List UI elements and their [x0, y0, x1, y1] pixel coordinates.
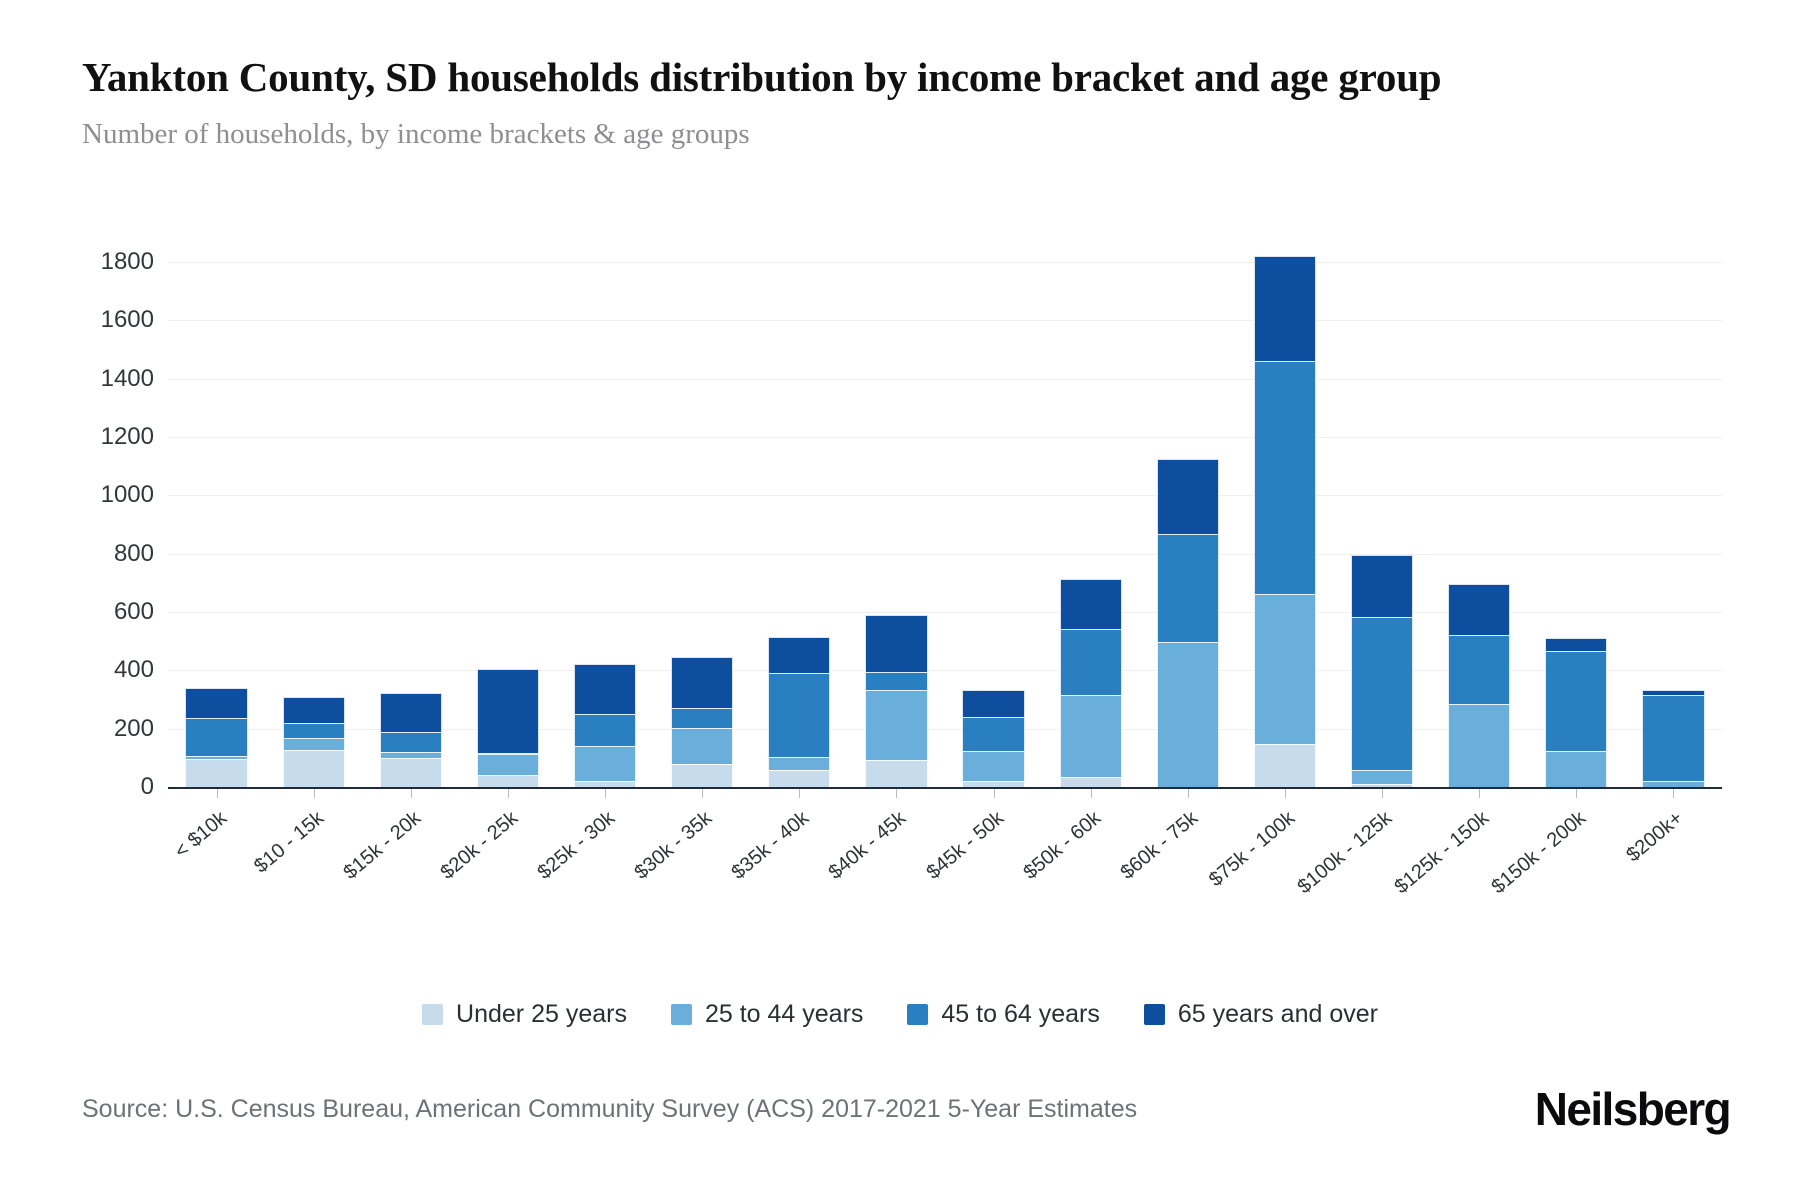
- x-axis-tick-label: $200k+: [1623, 807, 1688, 867]
- y-axis-tick-label: 1000: [101, 481, 154, 509]
- bar-group[interactable]: [1139, 262, 1236, 787]
- bar-stack: [1254, 256, 1316, 787]
- x-axis-tick: $75k - 100k: [1236, 789, 1333, 919]
- x-tick-mark: [1285, 789, 1286, 798]
- y-axis-tick-label: 1400: [101, 365, 154, 393]
- y-axis-tick-label: 0: [141, 773, 154, 801]
- legend-item[interactable]: 45 to 64 years: [907, 1000, 1099, 1029]
- y-axis-tick-label: 800: [114, 540, 154, 568]
- bar-segment[interactable]: [768, 637, 830, 673]
- x-axis-tick: $100k - 125k: [1334, 789, 1431, 919]
- y-axis-tick-label: 400: [114, 656, 154, 684]
- bar-group[interactable]: [1236, 262, 1333, 787]
- bar-segment[interactable]: [185, 688, 247, 718]
- bar-segment[interactable]: [1157, 534, 1219, 643]
- bar-stack: [185, 688, 247, 787]
- bar-segment[interactable]: [768, 757, 830, 770]
- bar-segment[interactable]: [1642, 695, 1704, 781]
- x-tick-mark: [994, 789, 995, 798]
- bar-stack: [962, 690, 1024, 787]
- bar-segment[interactable]: [962, 781, 1024, 787]
- bar-segment[interactable]: [1351, 617, 1413, 770]
- x-axis-tick: $10 - 15k: [265, 789, 362, 919]
- bar-segment[interactable]: [477, 669, 539, 753]
- bar-segment[interactable]: [1448, 584, 1510, 634]
- chart-footer: Source: U.S. Census Bureau, American Com…: [82, 1082, 1730, 1136]
- x-tick-mark: [1673, 789, 1674, 798]
- bar-segment[interactable]: [574, 714, 636, 746]
- bar-stack: [671, 657, 733, 787]
- bar-stack: [1351, 555, 1413, 787]
- x-tick-mark: [508, 789, 509, 798]
- bar-series-container: [168, 262, 1722, 787]
- bar-segment[interactable]: [574, 664, 636, 714]
- bar-group[interactable]: [362, 262, 459, 787]
- bar-segment[interactable]: [1254, 256, 1316, 362]
- x-axis: < $10k$10 - 15k$15k - 20k$20k - 25k$25k …: [168, 789, 1722, 919]
- x-tick-mark: [896, 789, 897, 798]
- x-axis-tick: $35k - 40k: [751, 789, 848, 919]
- legend-label: 45 to 64 years: [941, 1000, 1099, 1029]
- bar-segment[interactable]: [1060, 629, 1122, 695]
- y-axis-tick-label: 200: [114, 715, 154, 743]
- bar-segment[interactable]: [1254, 361, 1316, 593]
- bar-segment[interactable]: [477, 754, 539, 775]
- bar-segment[interactable]: [768, 770, 830, 787]
- bar-segment[interactable]: [865, 615, 927, 672]
- y-axis-tick-label: 1800: [101, 248, 154, 276]
- bar-group[interactable]: [265, 262, 362, 787]
- legend-label: 65 years and over: [1178, 1000, 1378, 1029]
- x-axis-tick: $45k - 50k: [945, 789, 1042, 919]
- y-axis-tick-label: 1600: [101, 306, 154, 334]
- x-axis-tick: < $10k: [168, 789, 265, 919]
- bar-stack: [1642, 690, 1704, 787]
- bar-segment[interactable]: [1545, 638, 1607, 651]
- bar-segment[interactable]: [283, 723, 345, 738]
- x-tick-mark: [314, 789, 315, 798]
- page-title: Yankton County, SD households distributi…: [82, 52, 1662, 102]
- x-tick-mark: [1479, 789, 1480, 798]
- x-tick-mark: [217, 789, 218, 798]
- bar-segment[interactable]: [1254, 594, 1316, 744]
- bar-stack: [865, 615, 927, 787]
- source-note: Source: U.S. Census Bureau, American Com…: [82, 1095, 1137, 1124]
- bar-group[interactable]: [168, 262, 265, 787]
- bar-segment[interactable]: [283, 738, 345, 750]
- bar-stack: [574, 664, 636, 787]
- bar-group[interactable]: [1625, 262, 1722, 787]
- legend-swatch-icon: [907, 1004, 928, 1025]
- bar-segment[interactable]: [671, 708, 733, 728]
- bar-segment[interactable]: [962, 751, 1024, 781]
- x-axis-tick: $60k - 75k: [1139, 789, 1236, 919]
- plot-area: 020040060080010001200140016001800 < $10k…: [82, 262, 1722, 922]
- bar-segment[interactable]: [380, 758, 442, 787]
- bar-stack: [283, 697, 345, 787]
- bar-group[interactable]: [557, 262, 654, 787]
- x-axis-tick: $50k - 60k: [1042, 789, 1139, 919]
- x-tick-mark: [1091, 789, 1092, 798]
- legend-swatch-icon: [671, 1004, 692, 1025]
- bar-segment[interactable]: [574, 781, 636, 787]
- bar-segment[interactable]: [865, 690, 927, 761]
- bar-stack: [477, 669, 539, 787]
- bar-segment[interactable]: [380, 732, 442, 752]
- bar-segment[interactable]: [185, 718, 247, 756]
- bar-segment[interactable]: [1351, 555, 1413, 617]
- chart-header: Yankton County, SD households distributi…: [82, 52, 1722, 154]
- bar-segment[interactable]: [1060, 579, 1122, 629]
- chart-page: Yankton County, SD households distributi…: [0, 0, 1800, 1200]
- bar-segment[interactable]: [1545, 651, 1607, 751]
- x-tick-mark: [702, 789, 703, 798]
- bar-segment[interactable]: [1254, 744, 1316, 787]
- bar-group[interactable]: [1042, 262, 1139, 787]
- bar-segment[interactable]: [477, 775, 539, 787]
- bar-stack: [1448, 584, 1510, 787]
- bar-stack: [1157, 459, 1219, 787]
- x-tick-mark: [411, 789, 412, 798]
- bar-segment[interactable]: [1448, 635, 1510, 704]
- x-tick-mark: [799, 789, 800, 798]
- bar-segment[interactable]: [1448, 704, 1510, 787]
- bar-group[interactable]: [1528, 262, 1625, 787]
- x-axis-tick: $150k - 200k: [1528, 789, 1625, 919]
- x-axis-tick: $15k - 20k: [362, 789, 459, 919]
- bar-segment[interactable]: [962, 690, 1024, 716]
- bar-segment[interactable]: [768, 673, 830, 757]
- bar-stack: [1060, 579, 1122, 787]
- bar-segment[interactable]: [185, 759, 247, 787]
- legend-item[interactable]: Under 25 years: [422, 1000, 627, 1029]
- x-axis-tick-label: < $10k: [170, 807, 231, 864]
- bar-segment[interactable]: [671, 657, 733, 708]
- x-axis-tick: $125k - 150k: [1431, 789, 1528, 919]
- legend-swatch-icon: [422, 1004, 443, 1025]
- bar-segment[interactable]: [1060, 695, 1122, 777]
- bar-segment[interactable]: [1157, 459, 1219, 534]
- bar-segment[interactable]: [1351, 770, 1413, 784]
- bar-stack: [768, 637, 830, 787]
- x-tick-mark: [605, 789, 606, 798]
- bar-segment[interactable]: [962, 717, 1024, 751]
- brand-logo: Neilsberg: [1535, 1082, 1730, 1136]
- bar-group[interactable]: [459, 262, 556, 787]
- bar-segment[interactable]: [283, 750, 345, 787]
- bar-segment[interactable]: [671, 728, 733, 764]
- bar-group[interactable]: [1431, 262, 1528, 787]
- x-tick-mark: [1188, 789, 1189, 798]
- bar-stack: [1545, 638, 1607, 787]
- bar-segment[interactable]: [283, 697, 345, 723]
- bar-segment[interactable]: [865, 760, 927, 787]
- legend-swatch-icon: [1144, 1004, 1165, 1025]
- bar-group[interactable]: [848, 262, 945, 787]
- bar-segment[interactable]: [574, 746, 636, 782]
- y-axis-tick-label: 1200: [101, 423, 154, 451]
- chart-subtitle: Number of households, by income brackets…: [82, 116, 1722, 154]
- x-axis-tick: $30k - 35k: [654, 789, 751, 919]
- y-axis-tick-label: 600: [114, 598, 154, 626]
- bar-segment[interactable]: [1157, 642, 1219, 787]
- legend-item[interactable]: 65 years and over: [1144, 1000, 1378, 1029]
- x-axis-tick: $40k - 45k: [848, 789, 945, 919]
- bar-segment[interactable]: [865, 672, 927, 690]
- legend-item[interactable]: 25 to 44 years: [671, 1000, 863, 1029]
- bar-segment[interactable]: [1642, 781, 1704, 787]
- x-axis-tick: $200k+: [1625, 789, 1722, 919]
- bar-segment[interactable]: [1351, 784, 1413, 788]
- x-tick-mark: [1382, 789, 1383, 798]
- legend-label: 25 to 44 years: [705, 1000, 863, 1029]
- legend-label: Under 25 years: [456, 1000, 627, 1029]
- bar-segment[interactable]: [380, 693, 442, 732]
- bar-segment[interactable]: [1545, 751, 1607, 787]
- y-axis: 020040060080010001200140016001800: [82, 262, 168, 787]
- bar-group[interactable]: [1334, 262, 1431, 787]
- x-axis-tick: $20k - 25k: [459, 789, 556, 919]
- bar-stack: [380, 693, 442, 787]
- bar-group[interactable]: [945, 262, 1042, 787]
- x-tick-mark: [1576, 789, 1577, 798]
- bar-segment[interactable]: [1060, 777, 1122, 787]
- bar-group[interactable]: [654, 262, 751, 787]
- bar-group[interactable]: [751, 262, 848, 787]
- x-axis-tick: $25k - 30k: [557, 789, 654, 919]
- bar-segment[interactable]: [671, 764, 733, 787]
- chart-legend: Under 25 years25 to 44 years45 to 64 yea…: [0, 1000, 1800, 1029]
